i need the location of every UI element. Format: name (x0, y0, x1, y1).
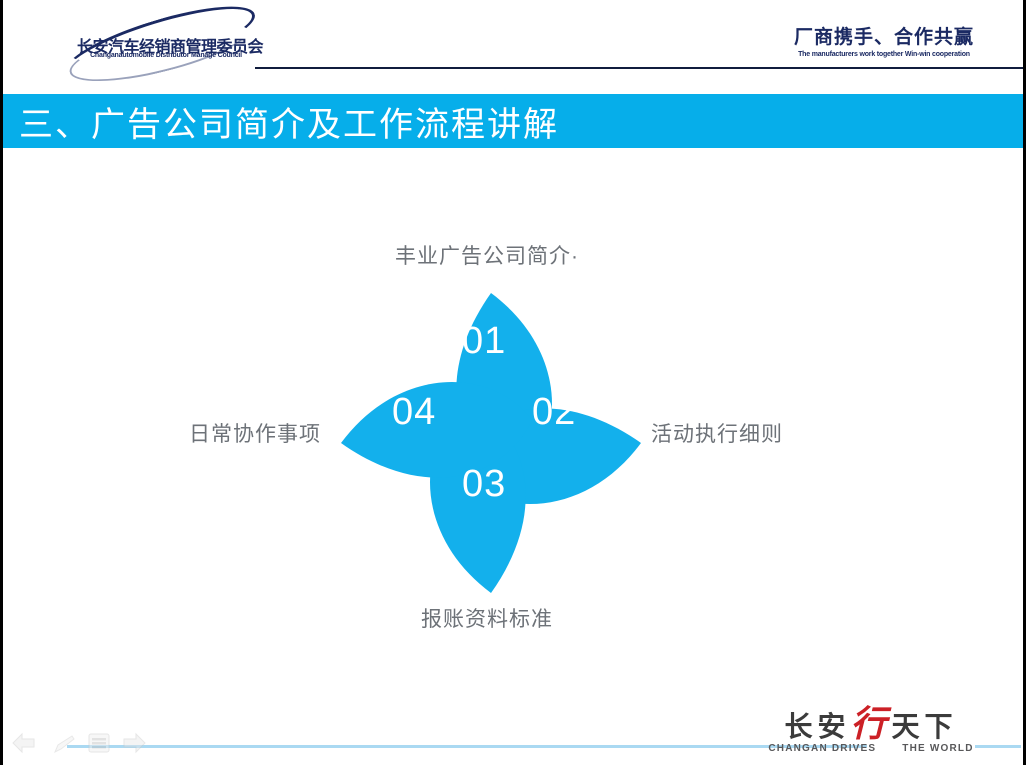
footer-divider-line-right (975, 745, 1021, 748)
header-divider-line (255, 67, 1023, 69)
presentation-slide: 长安汽车经销商管理委员会 Changanautomobile Distribut… (0, 0, 1026, 765)
slogan-part-a: 长安 (784, 711, 850, 742)
petal-number-01: 01 (462, 320, 506, 363)
slogan-en-a: CHANGAN DRIVES (768, 743, 876, 754)
slogan-part-red: 行 (850, 703, 891, 744)
slogan-english: The manufacturers work together Win-win … (791, 51, 977, 58)
petal-number-04: 04 (392, 391, 436, 434)
changan-slogan-chinese: 长安行天下 (761, 706, 981, 745)
slideshow-menu-icon[interactable] (87, 732, 111, 754)
slogan-chinese: 厂商携手、合作共赢 (791, 22, 977, 49)
diagram-caption-right: 活动执行细则 (651, 418, 783, 448)
slide-header: 长安汽车经销商管理委员会 Changanautomobile Distribut… (3, 0, 1026, 88)
slogan-part-b: 天下 (892, 711, 958, 742)
footer-divider-line (67, 745, 867, 748)
slide-footer: 长安行天下 CHANGAN DRIVESTHE WORLD (3, 700, 1026, 765)
slide-title-band: 三、广告公司简介及工作流程讲解 (3, 94, 1026, 148)
pen-annotation-icon[interactable] (53, 734, 77, 754)
slide-title: 三、广告公司简介及工作流程讲解 (3, 97, 559, 146)
changan-drives-logo: 长安行天下 CHANGAN DRIVESTHE WORLD (761, 706, 981, 762)
slide-body: 丰业广告公司简介· 活动执行细则 报账资料标准 日常协作事项 01 02 0 (3, 148, 1026, 700)
changan-council-logo: 长安汽车经销商管理委员会 Changanautomobile Distribut… (61, 16, 271, 72)
pinwheel-diagram: 01 02 03 04 (336, 288, 646, 598)
slogan-en-b: THE WORLD (902, 743, 973, 754)
previous-slide-icon[interactable] (11, 732, 37, 754)
diagram-caption-left: 日常协作事项 (189, 418, 321, 448)
petal-number-02: 02 (532, 391, 576, 434)
header-slogan: 厂商携手、合作共赢 The manufacturers work togethe… (791, 22, 977, 68)
next-slide-icon[interactable] (121, 732, 147, 754)
diagram-caption-top: 丰业广告公司简介· (395, 240, 579, 270)
slideshow-nav-controls[interactable] (11, 730, 151, 760)
changan-slogan-english: CHANGAN DRIVESTHE WORLD (761, 743, 981, 754)
diagram-caption-bottom: 报账资料标准 (421, 603, 553, 633)
petal-number-03: 03 (462, 463, 506, 506)
logo-english-name: Changanautomobile Distributor Manage Cou… (71, 52, 261, 59)
